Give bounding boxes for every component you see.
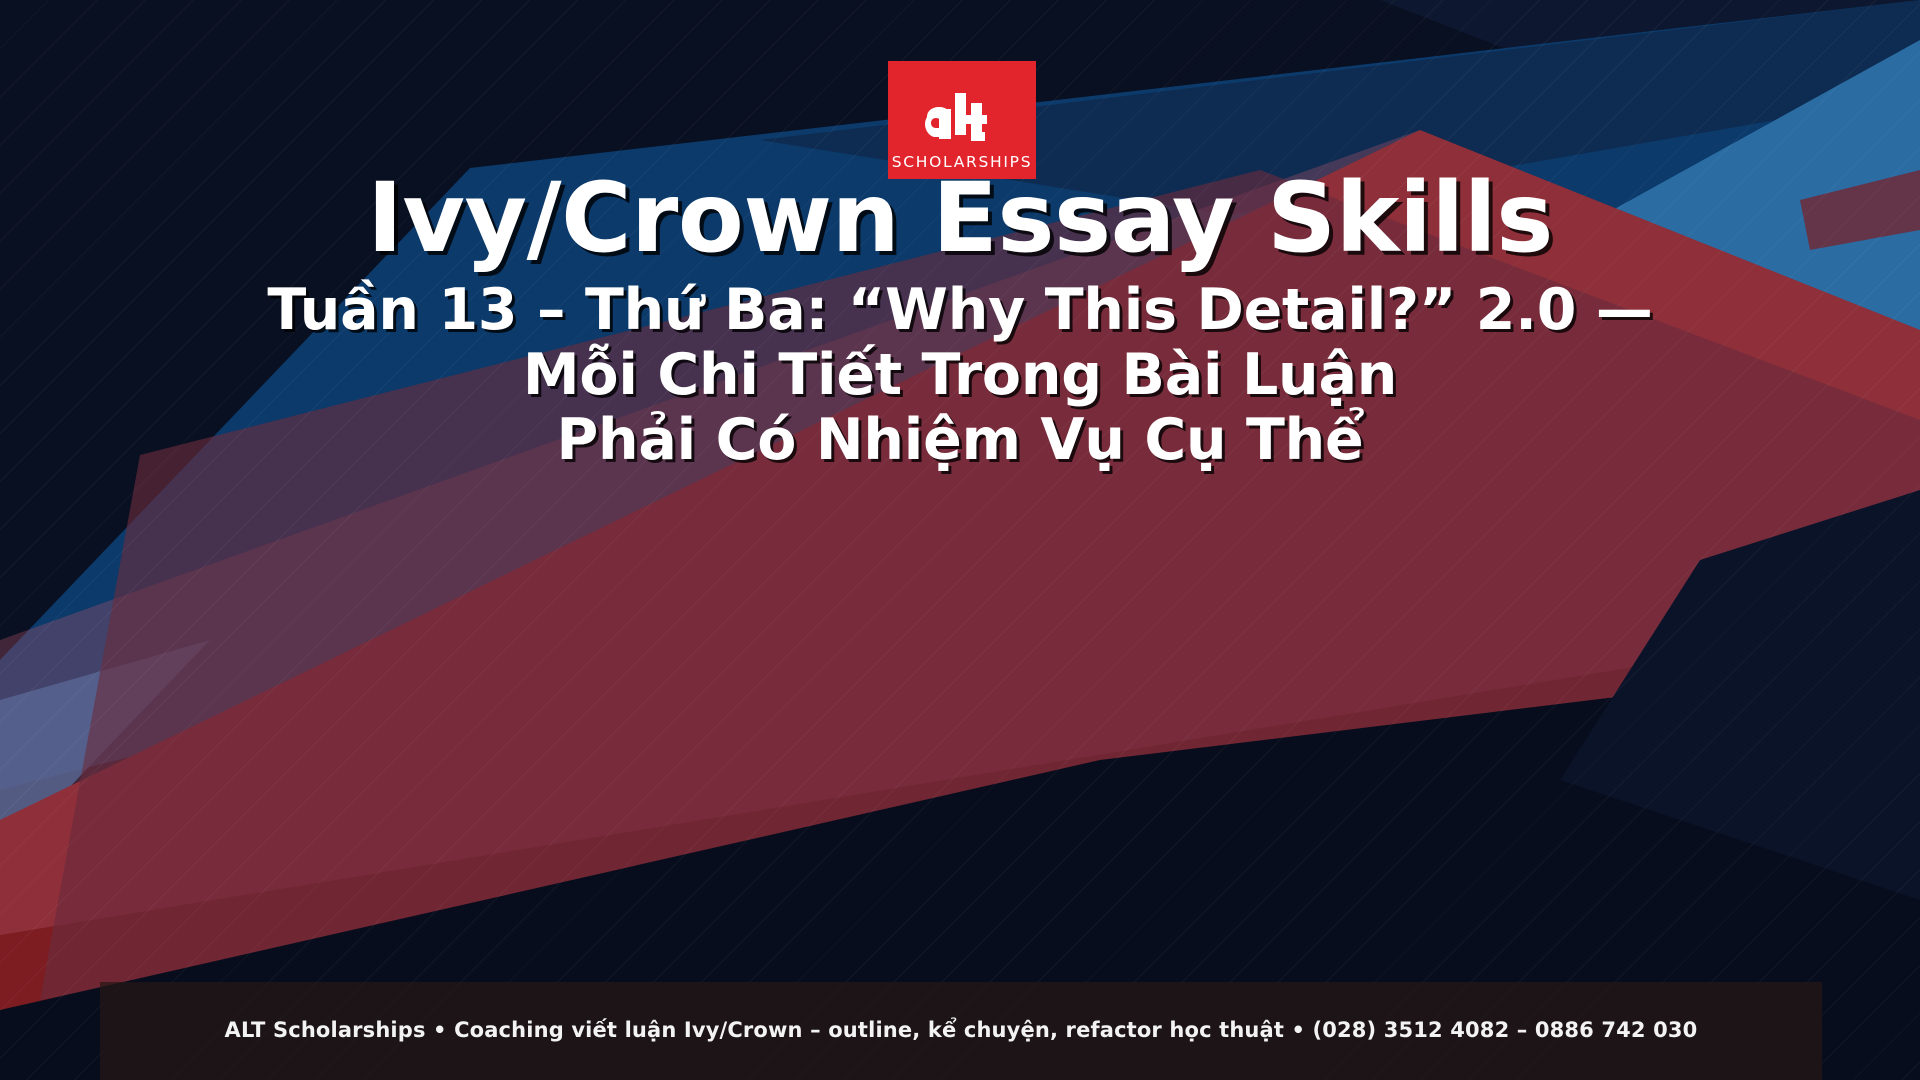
footer-contact-text: ALT Scholarships • Coaching viết luận Iv… xyxy=(225,1018,1698,1043)
subtitle-line-1: Tuần 13 – Thứ Ba: “Why This Detail?” 2.0… xyxy=(60,278,1860,343)
slide-subtitle: Tuần 13 – Thứ Ba: “Why This Detail?” 2.0… xyxy=(0,278,1920,473)
presentation-slide: SCHOLARSHIPS Ivy/Crown Essay Skills Tuần… xyxy=(0,0,1920,1080)
footer-bar: ALT Scholarships • Coaching viết luận Iv… xyxy=(100,982,1822,1080)
alt-logo-icon xyxy=(917,91,1007,153)
subtitle-line-2: Mỗi Chi Tiết Trong Bài Luận xyxy=(60,343,1860,408)
subtitle-line-3: Phải Có Nhiệm Vụ Cụ Thể xyxy=(60,408,1860,473)
slide-text-block: Ivy/Crown Essay Skills Tuần 13 – Thứ Ba:… xyxy=(0,168,1920,473)
page-title: Ivy/Crown Essay Skills xyxy=(0,168,1920,270)
